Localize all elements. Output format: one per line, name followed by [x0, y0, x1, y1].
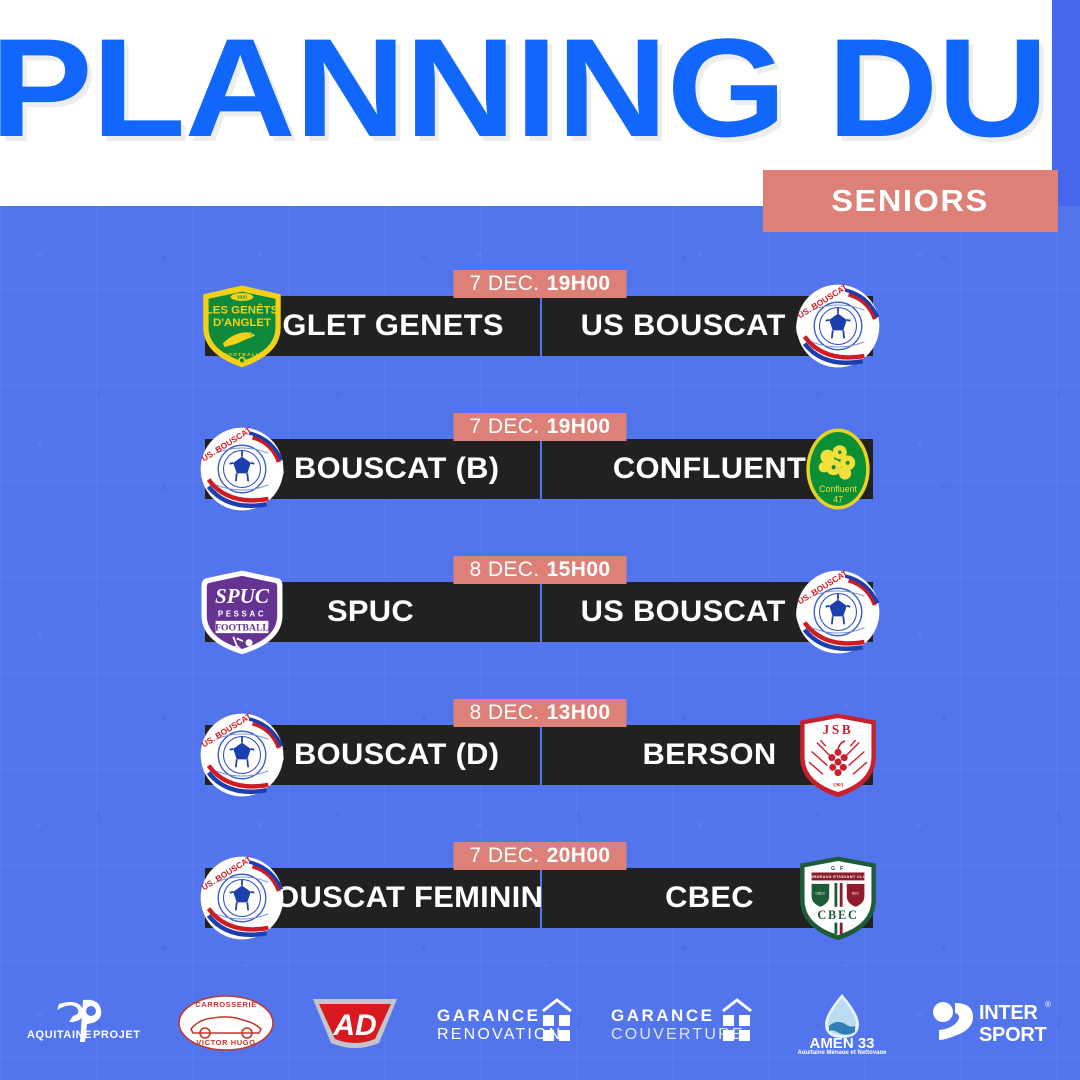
match-row: 8 DEC. 15H00 SPUC US BOUSCAT (C) SPUC PE… [0, 492, 1080, 635]
svg-text:47: 47 [833, 494, 843, 504]
category-badge: SENIORS [763, 170, 1058, 232]
jsb-berson-logo: JSB 1903 [794, 711, 882, 799]
match-datetime-chip: 7 DEC. 20H00 [454, 842, 627, 870]
svg-text:1910: 1910 [237, 295, 247, 300]
us-bouscat-logo: US. BOUSCAT [794, 568, 882, 656]
aquitaine-projet-logo: AQUITAINE PROJET [23, 988, 143, 1058]
us-bouscat-logo: US. BOUSCAT [794, 282, 882, 370]
match-date: 7 DEC. [470, 844, 540, 868]
svg-text:Confluent: Confluent [819, 484, 857, 494]
svg-text:SPUC: SPUC [215, 584, 270, 608]
svg-text:GARANCE: GARANCE [437, 1006, 540, 1025]
match-date: 8 DEC. [470, 701, 540, 725]
svg-text:PROJET: PROJET [93, 1029, 141, 1041]
svg-text:SPORT: SPORT [979, 1024, 1046, 1046]
match-time: 20H00 [547, 844, 611, 868]
match-datetime-chip: 8 DEC. 13H00 [454, 699, 627, 727]
match-time: 13H00 [547, 701, 611, 725]
svg-text:BEC: BEC [852, 891, 860, 895]
svg-text:®: ® [1045, 1000, 1051, 1009]
sponsor-bar: AQUITAINE PROJET CARROSSERIE VICTOR HUGO… [0, 975, 1080, 1070]
svg-text:LES GENÊTS: LES GENÊTS [206, 304, 279, 317]
svg-text:BORDEAUX ETUDIANT CLUB: BORDEAUX ETUDIANT CLUB [807, 874, 869, 879]
match-datetime-chip: 8 DEC. 15H00 [454, 556, 627, 584]
us-bouscat-logo: US. BOUSCAT [198, 854, 286, 942]
svg-text:FOOTBALL: FOOTBALL [215, 622, 269, 633]
anglet-genets-logo: 1910 LES GENÊTS D'ANGLET FOOTBALL [198, 282, 286, 370]
garance-renovation-logo: GARANCE RENOVATION [435, 988, 575, 1058]
match-datetime-chip: 7 DEC. 19H00 [454, 413, 627, 441]
svg-text:1903: 1903 [833, 783, 844, 789]
svg-text:G F: G F [831, 866, 845, 872]
match-date: 8 DEC. [470, 558, 540, 582]
svg-text:D'ANGLET: D'ANGLET [213, 317, 271, 329]
svg-text:AD: AD [332, 1009, 376, 1042]
match-list: 7 DEC. 19H00 ANGLET GENETS US BOUSCAT (A… [0, 206, 1080, 921]
match-datetime-chip: 7 DEC. 19H00 [454, 270, 627, 298]
svg-text:CBEC: CBEC [816, 891, 826, 895]
match-row: 7 DEC. 20H00 US BOUSCAT FEMININES CBEC U… [0, 778, 1080, 921]
spuc-pessac-logo: SPUC PESSAC FOOTBALL [198, 568, 286, 656]
match-date: 7 DEC. [470, 272, 540, 296]
svg-text:CARROSSERIE: CARROSSERIE [195, 1000, 257, 1009]
category-badge-label: SENIORS [832, 183, 990, 219]
svg-text:JSB: JSB [823, 722, 854, 737]
svg-text:GARANCE: GARANCE [611, 1006, 714, 1025]
svg-text:CBEC: CBEC [817, 908, 858, 922]
intersport-logo: INTER ® SPORT [929, 988, 1057, 1058]
ad-logo: AD [309, 988, 401, 1058]
carrosserie-victor-hugo-logo: CARROSSERIE VICTOR HUGO [177, 988, 275, 1058]
match-row: 8 DEC. 13H00 US BOUSCAT (D) BERSON US. B… [0, 635, 1080, 778]
svg-text:VICTOR HUGO: VICTOR HUGO [196, 1038, 255, 1047]
match-row: 7 DEC. 19H00 US BOUSCAT (B) CONFLUENT US… [0, 349, 1080, 492]
cbec-logo: G F BORDEAUX ETUDIANT CLUB CBEC BEC CBEC [794, 854, 882, 942]
us-bouscat-logo: US. BOUSCAT [198, 425, 286, 513]
match-time: 19H00 [547, 272, 611, 296]
svg-text:PESSAC: PESSAC [218, 609, 266, 618]
match-date: 7 DEC. [470, 415, 540, 439]
svg-text:INTER: INTER [979, 1002, 1038, 1024]
match-time: 15H00 [547, 558, 611, 582]
svg-text:Aquitaine Ménage et Nettoyage: Aquitaine Ménage et Nettoyage [797, 1050, 887, 1054]
match-time: 19H00 [547, 415, 611, 439]
amen-33-logo: AMEN 33 Aquitaine Ménage et Nettoyage [789, 988, 895, 1058]
svg-text:AQUITAINE: AQUITAINE [27, 1029, 92, 1041]
confluent-47-logo: Confluent 47 [794, 425, 882, 513]
us-bouscat-logo: US. BOUSCAT [198, 711, 286, 799]
garance-couverture-logo: GARANCE COUVERTURE [609, 988, 755, 1058]
page-title: PLANNING DU WEEK-END [0, 8, 1080, 168]
